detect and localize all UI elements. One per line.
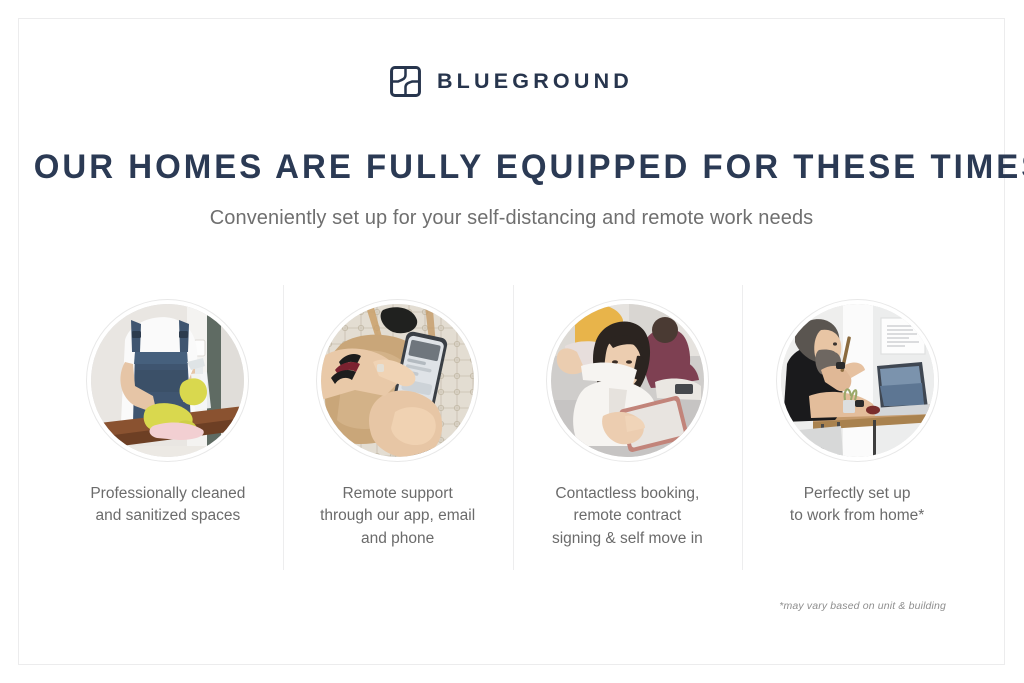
feature-column-4: Perfectly set up to work from home* <box>742 277 972 572</box>
feature-caption: Perfectly set up to work from home* <box>790 483 924 528</box>
promo-page: BLUEGROUND OUR HOMES ARE FULLY EQUIPPED … <box>0 0 1024 683</box>
feature-caption: Contactless booking, remote contract sig… <box>552 483 703 550</box>
feature-columns: Professionally cleaned and sanitized spa… <box>53 277 972 572</box>
feature-caption: Remote support through our app, email an… <box>320 483 475 550</box>
feature-column-3: Contactless booking, remote contract sig… <box>513 277 743 572</box>
brand-name: BLUEGROUND <box>437 71 633 93</box>
blueground-square-mark-icon <box>390 66 421 97</box>
feature-column-1: Professionally cleaned and sanitized spa… <box>53 277 283 572</box>
tablet-booking-photo <box>546 299 709 462</box>
page-title: OUR HOMES ARE FULLY EQUIPPED FOR THESE T… <box>34 149 989 186</box>
feature-column-2: Remote support through our app, email an… <box>283 277 513 572</box>
feature-caption: Professionally cleaned and sanitized spa… <box>90 483 245 528</box>
cleaning-counter-photo <box>86 299 249 462</box>
footnote: *may vary based on unit & building <box>779 600 946 612</box>
page-subtitle: Conveniently set up for your self-distan… <box>19 205 1004 231</box>
smartphone-support-photo <box>316 299 479 462</box>
content-frame: BLUEGROUND OUR HOMES ARE FULLY EQUIPPED … <box>18 18 1005 665</box>
brand-lockup: BLUEGROUND <box>19 66 1004 97</box>
work-from-home-photo <box>776 299 939 462</box>
